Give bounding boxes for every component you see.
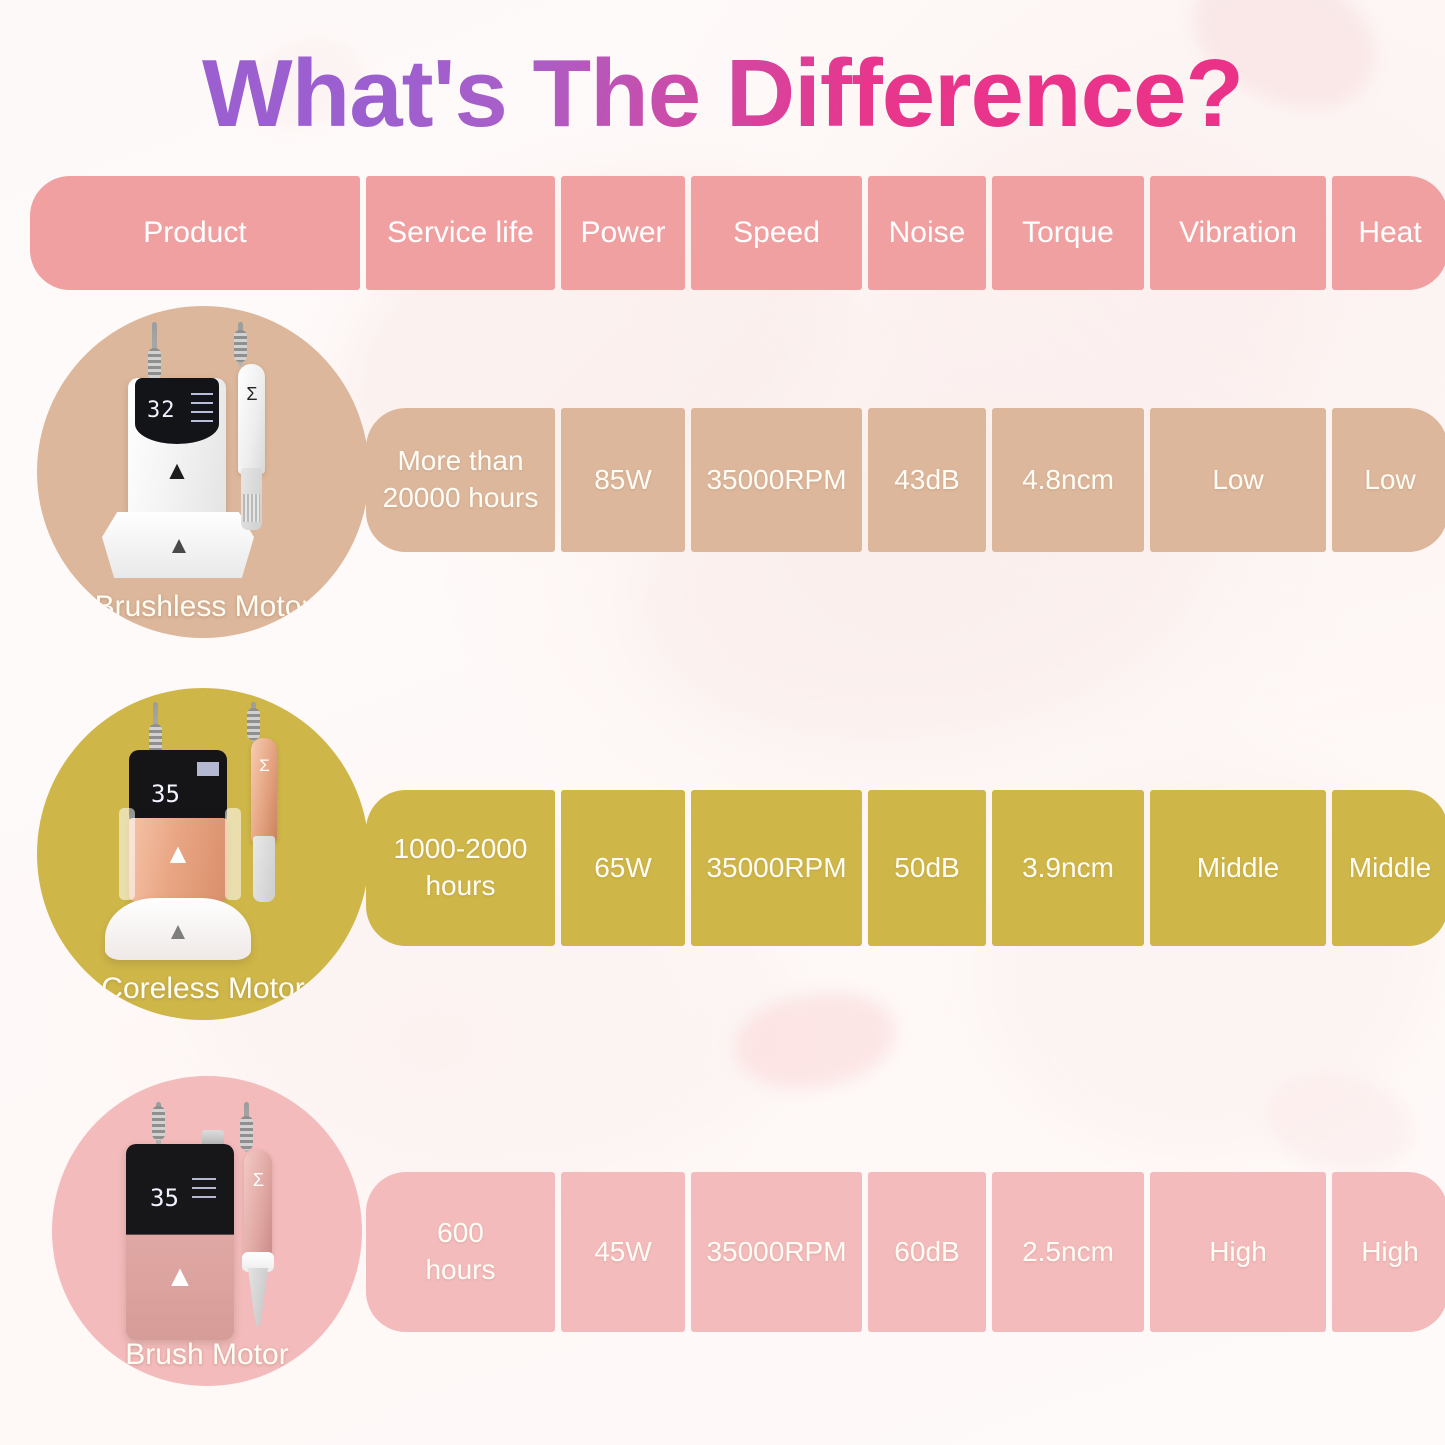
product-label-coreless: Coreless Motor	[101, 972, 304, 1020]
row1-cell-heat: Low	[1332, 408, 1445, 552]
table-header-row: Product Service life Power Speed Noise T…	[30, 176, 1445, 290]
row1-cell-service-life: More than 20000 hours	[366, 408, 555, 552]
base-brand-logo-icon: ▲	[158, 534, 200, 558]
row3-cell-noise: 60dB	[868, 1172, 986, 1332]
row2-service-life-line1: 1000-2000	[394, 833, 528, 864]
cord-coil	[152, 1106, 165, 1140]
brand-logo-icon: ▲	[153, 838, 203, 870]
row1-cell-noise: 43dB	[868, 408, 986, 552]
device-display-indicators	[197, 762, 219, 776]
header-cell-product: Product	[30, 176, 360, 290]
row3-cell-power: 45W	[561, 1172, 685, 1332]
product-circle-coreless: 35 ▲ ▲ Σ Coreless Motor	[37, 688, 369, 1020]
row1-cell-speed: 35000RPM	[691, 408, 862, 552]
row3-cell-torque: 2.5ncm	[992, 1172, 1144, 1332]
row2-cell-vibration: Middle	[1150, 790, 1326, 946]
header-cell-power: Power	[561, 176, 685, 290]
product-label-brushless: Brushless Motor	[95, 590, 312, 638]
nail-drill-device-icon: 35 ▲ Σ	[92, 1102, 322, 1372]
device-display-indicators	[191, 393, 213, 425]
nail-drill-device-icon: 32 ▲ ▲ Σ	[88, 322, 318, 612]
device-display-indicators	[192, 1178, 216, 1204]
handpiece	[238, 364, 265, 474]
row2-cell-heat: Middle	[1332, 790, 1445, 946]
product-circle-brush: 35 ▲ Σ Brush Motor	[52, 1076, 362, 1386]
product-label-brush: Brush Motor	[125, 1338, 288, 1386]
handpiece-logo-icon: Σ	[256, 756, 273, 776]
row3-service-life-line1: 600	[437, 1217, 484, 1248]
header-cell-heat: Heat	[1332, 176, 1445, 290]
handpiece-cord-coil	[240, 1116, 253, 1150]
base-brand-logo-icon: ▲	[153, 918, 203, 946]
handpiece-grip	[243, 494, 260, 522]
brand-logo-icon: ▲	[156, 458, 198, 482]
header-cell-speed: Speed	[691, 176, 862, 290]
row1-cell-vibration: Low	[1150, 408, 1326, 552]
header-cell-noise: Noise	[868, 176, 986, 290]
row3-cell-speed: 35000RPM	[691, 1172, 862, 1332]
handpiece-logo-icon: Σ	[250, 1170, 267, 1191]
handpiece-cord-coil	[234, 330, 247, 362]
row3-cell-heat: High	[1332, 1172, 1445, 1332]
handpiece-tip	[248, 1268, 268, 1326]
device-screen: 32	[135, 378, 219, 444]
device-holder-left	[119, 808, 135, 900]
row3-cell-vibration: High	[1150, 1172, 1326, 1332]
header-cell-torque: Torque	[992, 176, 1144, 290]
cord-coil	[148, 348, 161, 380]
row2-cell-torque: 3.9ncm	[992, 790, 1144, 946]
handpiece-cord-coil	[247, 708, 260, 740]
row3-cell-service-life: 600 hours	[366, 1172, 555, 1332]
row2-cell-speed: 35000RPM	[691, 790, 862, 946]
device-display-value: 35	[150, 1184, 179, 1212]
handpiece-logo-icon: Σ	[243, 384, 261, 405]
row1-service-life-line2: 20000 hours	[383, 482, 539, 513]
row1-service-life-line1: More than	[397, 445, 523, 476]
row1-cell-torque: 4.8ncm	[992, 408, 1144, 552]
product-circle-brushless: 32 ▲ ▲ Σ Brushless Motor	[37, 306, 369, 638]
device-holder-right	[225, 808, 241, 900]
handpiece	[244, 1150, 272, 1256]
row3-service-life-line2: hours	[425, 1254, 495, 1285]
device-display-value: 32	[147, 398, 176, 423]
nail-drill-device-icon: 35 ▲ ▲ Σ	[83, 702, 323, 1002]
row2-cell-noise: 50dB	[868, 790, 986, 946]
handpiece-tip	[253, 836, 275, 902]
brand-logo-icon: ▲	[154, 1260, 206, 1294]
row2-service-life-line2: hours	[425, 870, 495, 901]
device-body	[126, 1144, 234, 1340]
comparison-infographic: What's The Difference? Product Service l…	[0, 0, 1445, 1445]
row2-cell-power: 65W	[561, 790, 685, 946]
header-cell-service-life: Service life	[366, 176, 555, 290]
row1-cell-power: 85W	[561, 408, 685, 552]
header-cell-vibration: Vibration	[1150, 176, 1326, 290]
handpiece	[251, 738, 277, 842]
device-display-value: 35	[151, 780, 180, 808]
page-title: What's The Difference?	[0, 44, 1445, 145]
row2-cell-service-life: 1000-2000 hours	[366, 790, 555, 946]
